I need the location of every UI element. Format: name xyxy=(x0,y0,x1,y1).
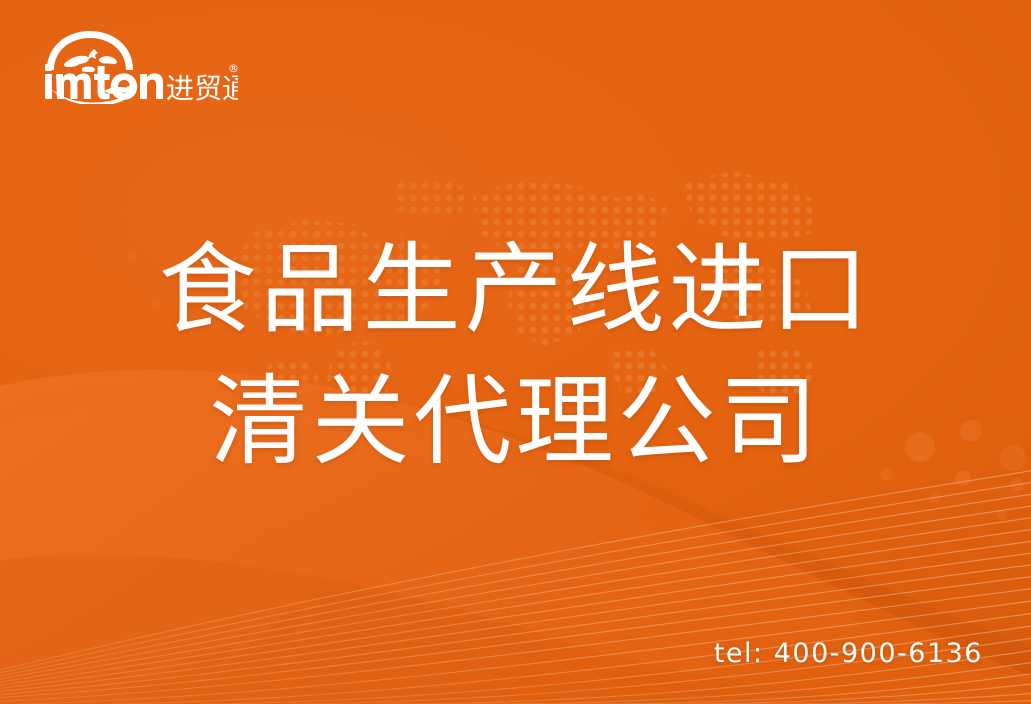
logo-chinese-name: 进贸通 xyxy=(166,72,238,104)
headline: 食品生产线进口 清关代理公司 xyxy=(0,228,1031,484)
logo-wordmark xyxy=(45,64,163,100)
headline-line-1: 食品生产线进口 xyxy=(0,228,1031,352)
trademark-symbol: ® xyxy=(228,62,238,75)
headline-line-2: 清关代理公司 xyxy=(0,360,1031,484)
globe-icon xyxy=(47,31,133,72)
promotional-banner: 进贸通 ® 食品生产线进口 清关代理公司 tel: 400-900-6136 xyxy=(0,0,1031,704)
telephone-text: tel: 400-900-6136 xyxy=(714,638,983,669)
company-logo[interactable]: 进贸通 ® xyxy=(38,28,238,104)
